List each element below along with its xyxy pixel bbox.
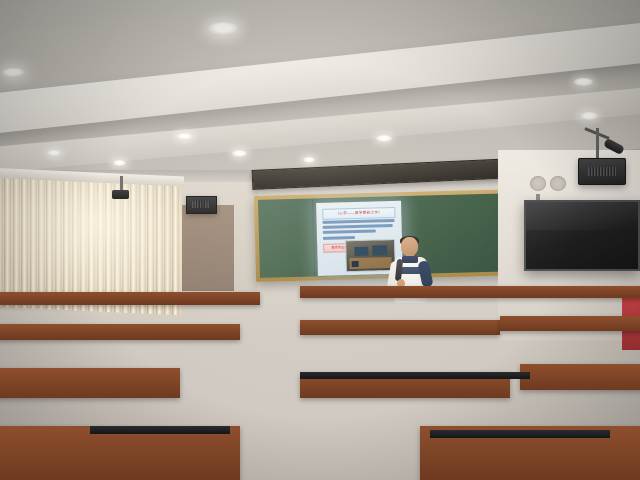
slide-body-text xyxy=(323,219,396,241)
desk xyxy=(0,324,240,340)
desk-back-edge xyxy=(90,426,230,434)
wall-vent-icon xyxy=(550,176,566,191)
desk xyxy=(0,292,260,305)
ceiling-downlight-icon xyxy=(113,160,126,166)
camera-arm-vertical xyxy=(596,128,599,158)
ceiling-downlight-icon xyxy=(376,135,392,142)
desk xyxy=(0,368,180,398)
ceiling-downlight-icon xyxy=(208,22,238,35)
ceiling-downlight-icon xyxy=(574,78,593,86)
ceiling-downlight-icon xyxy=(303,157,315,163)
ceiling-downlight-icon xyxy=(232,150,247,157)
presenter-collar xyxy=(402,256,418,263)
audience-area xyxy=(0,276,640,480)
slide-title-text: （心学——教学教研工作） xyxy=(335,210,382,216)
wall-mounted-display[interactable] xyxy=(524,200,640,271)
ceiling-downlight-icon xyxy=(176,133,193,140)
slide-embedded-photo xyxy=(345,239,396,272)
slide-title-bar: （心学——教学教研工作） xyxy=(322,207,395,220)
desk-back-edge xyxy=(430,430,610,438)
ceiling-downlight-icon xyxy=(47,150,61,156)
ceiling-downlight-icon xyxy=(2,68,24,77)
wall-speaker-left-icon xyxy=(186,196,217,214)
classroom-photo: （心学——教学教研工作） 教师专业发展路径 xyxy=(0,0,640,480)
desk xyxy=(300,286,640,298)
display-glare xyxy=(526,202,638,230)
wall-vent-icon xyxy=(530,176,546,191)
desk xyxy=(300,320,500,335)
ceiling-downlight-icon xyxy=(580,112,598,120)
desk xyxy=(520,364,640,390)
desk xyxy=(500,316,640,331)
desk-back-edge xyxy=(300,372,530,379)
ceiling-speaker-icon xyxy=(578,158,626,185)
desk xyxy=(0,426,240,480)
projector-icon xyxy=(112,190,129,199)
